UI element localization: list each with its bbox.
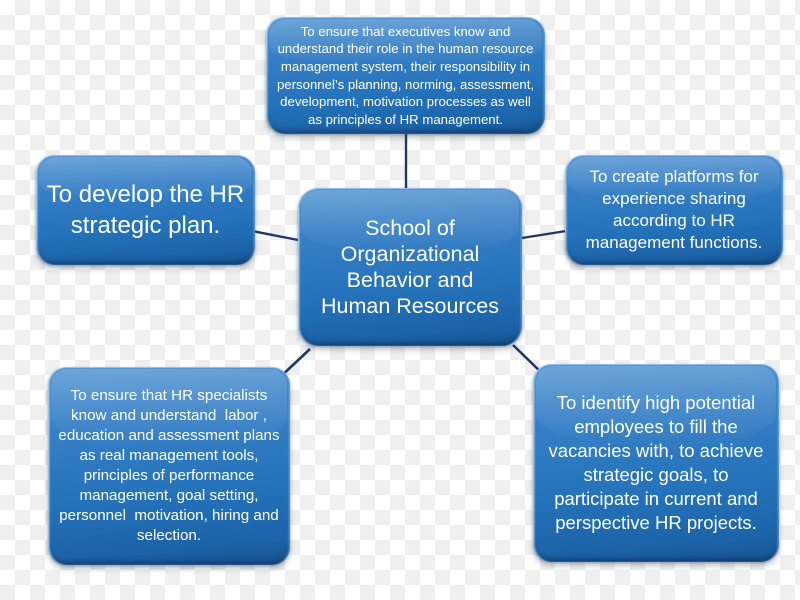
connector-center-to-right [522, 231, 566, 238]
connector-center-to-left [252, 231, 298, 240]
node-bottom-left-objective[interactable]: To ensure that HR specialists know and u… [48, 367, 290, 565]
node-bottom-left-label: To ensure that HR specialists know and u… [58, 386, 280, 547]
node-left-label: To develop the HR strategic plan. [46, 179, 245, 241]
node-center-label: School of Organizational Behavior and Hu… [308, 215, 512, 320]
node-center-hub[interactable]: School of Organizational Behavior and Hu… [298, 188, 522, 346]
node-bottom-right-objective[interactable]: To identify high potential employees to … [533, 364, 779, 562]
node-top-label: To ensure that executives know and under… [276, 23, 535, 128]
node-top-objective[interactable]: To ensure that executives know and under… [266, 17, 545, 134]
node-left-objective[interactable]: To develop the HR strategic plan. [36, 155, 255, 265]
diagram-canvas: To ensure that executives know and under… [0, 0, 800, 600]
node-bottom-right-label: To identify high potential employees to … [543, 391, 769, 535]
node-right-label: To create platforms for experience shari… [575, 166, 773, 254]
node-right-objective[interactable]: To create platforms for experience shari… [565, 155, 783, 265]
